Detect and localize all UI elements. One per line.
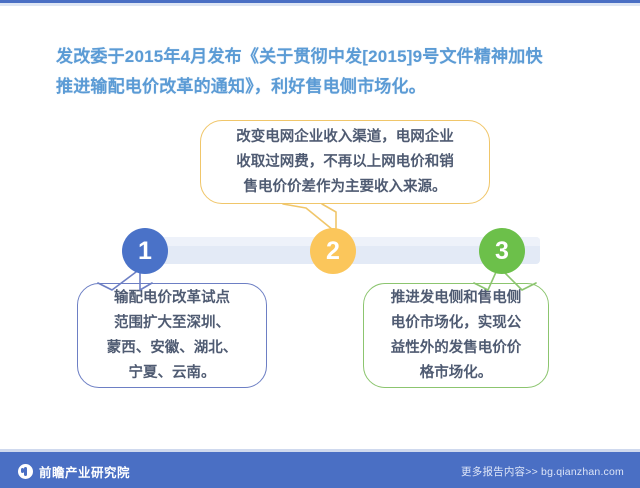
callout-left-text: 输配电价改革试点 范围扩大至深圳、 蒙西、安徽、湖北、 宁夏、云南。 xyxy=(78,286,266,386)
qianzhan-logo-icon xyxy=(18,464,33,479)
page-title-line-1: 发改委于2015年4月发布《关于贯彻中发[2015]9号文件精神加快 xyxy=(56,42,596,72)
step-node-3: 3 xyxy=(479,228,525,274)
brand-logo: 前瞻产业研究院 xyxy=(18,462,130,481)
callout-left: 输配电价改革试点 范围扩大至深圳、 蒙西、安徽、湖北、 宁夏、云南。 xyxy=(77,283,267,388)
top-accent-rule-soft xyxy=(0,3,640,6)
step-node-1: 1 xyxy=(122,228,168,274)
callout-top: 改变电网企业收入渠道，电网企业 收取过网费，不再以上网电价和销 售电价价差作为主… xyxy=(200,120,490,204)
callout-right-text: 推进发电侧和售电侧 电价市场化，实现公 益性外的发售电价价 格市场化。 xyxy=(364,286,548,386)
page-title-line-2: 推进输配电价改革的通知》，利好售电侧市场化。 xyxy=(56,72,596,102)
step-node-2: 2 xyxy=(310,228,356,274)
page-title: 发改委于2015年4月发布《关于贯彻中发[2015]9号文件精神加快 推进输配电… xyxy=(56,42,596,102)
callout-top-text: 改变电网企业收入渠道，电网企业 收取过网费，不再以上网电价和销 售电价价差作为主… xyxy=(201,125,489,200)
callout-right: 推进发电侧和售电侧 电价市场化，实现公 益性外的发售电价价 格市场化。 xyxy=(363,283,549,388)
footer-link[interactable]: 更多报告内容>> bg.qianzhan.com xyxy=(461,464,624,479)
slide-canvas: 发改委于2015年4月发布《关于贯彻中发[2015]9号文件精神加快 推进输配电… xyxy=(0,0,640,488)
brand-name: 前瞻产业研究院 xyxy=(39,462,130,481)
